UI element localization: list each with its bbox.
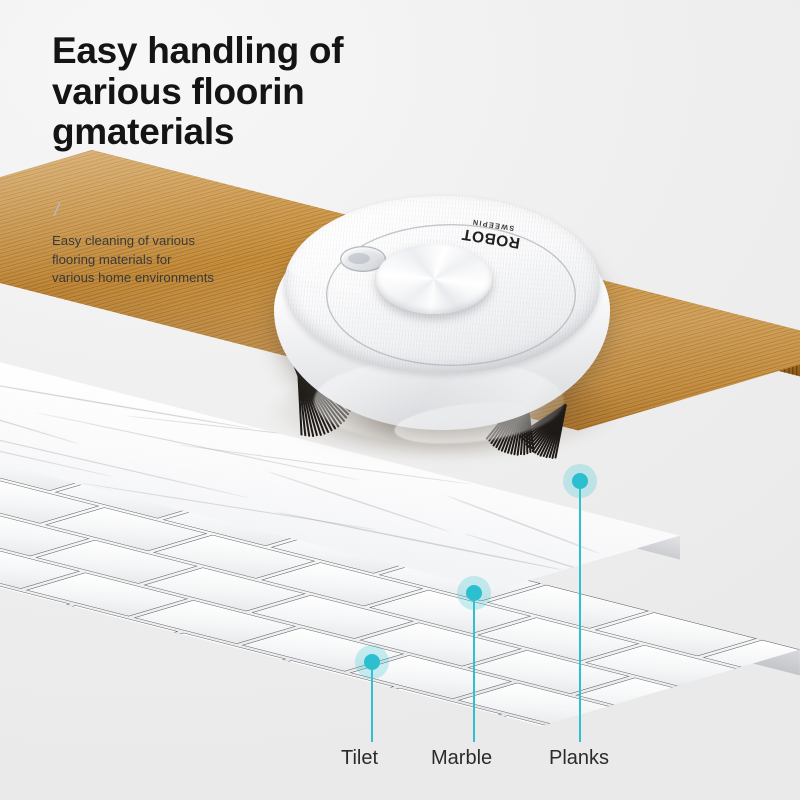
page-title: Easy handling of various floorin gmateri… [52, 31, 472, 153]
callout-label: Planks [549, 747, 609, 770]
robot-top-panel: ROBOT SWEEPIN [284, 196, 600, 374]
tile-unit [222, 693, 384, 726]
callout-line [371, 662, 373, 742]
product-feature-banner: ROBOT SWEEPIN TiletMarblePlanks Easy han… [0, 0, 800, 800]
tile-unit [566, 710, 728, 726]
callout-dot[interactable] [572, 473, 588, 489]
callout-dot[interactable] [364, 654, 380, 670]
tile-unit [683, 705, 800, 726]
callout-dot[interactable] [466, 585, 482, 601]
callout-line [473, 593, 475, 742]
tile-unit [330, 720, 492, 726]
callout-label: Marble [431, 747, 492, 770]
callout-line [579, 481, 581, 742]
lidar-turret-icon [376, 244, 492, 314]
subtitle-text: Easy cleaning of various flooring materi… [52, 232, 292, 288]
callout-label: Tilet [341, 747, 378, 770]
robot-vacuum: ROBOT SWEEPIN [262, 178, 622, 468]
